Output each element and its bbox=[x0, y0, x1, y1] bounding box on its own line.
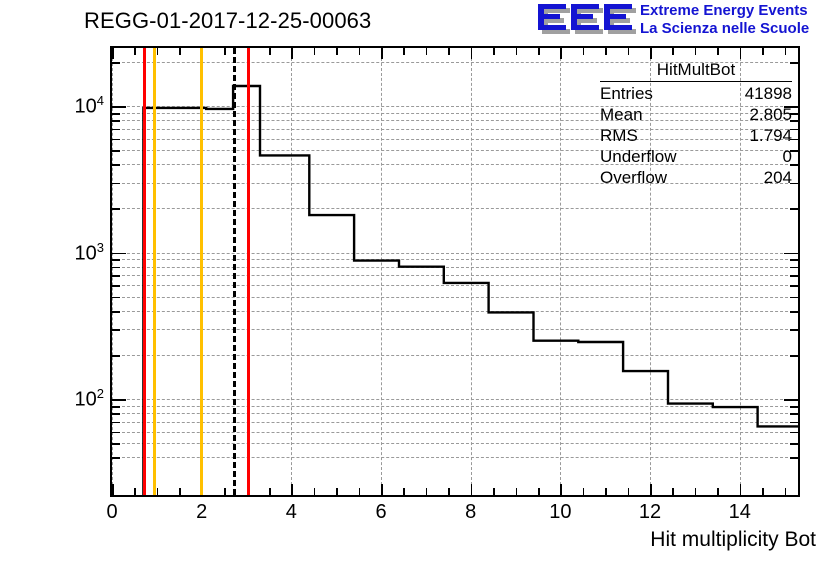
x-tick-label: 10 bbox=[549, 501, 571, 524]
x-tick-label: 14 bbox=[729, 501, 751, 524]
stats-value: 0 bbox=[783, 146, 792, 167]
x-tick-label: 8 bbox=[465, 501, 476, 524]
stats-key: RMS bbox=[600, 125, 638, 146]
x-tick-label: 2 bbox=[196, 501, 207, 524]
x-tick-label: 0 bbox=[106, 501, 117, 524]
eee-logo-line2: La Scienza nelle Scuole bbox=[640, 20, 809, 38]
stats-value: 204 bbox=[764, 167, 792, 188]
y-tick-label: 103 bbox=[52, 240, 104, 266]
stats-row: RMS1.794 bbox=[596, 125, 796, 146]
eee-logo: Extreme Energy Events La Scienza nelle S… bbox=[536, 2, 832, 40]
stats-key: Overflow bbox=[600, 167, 667, 188]
stats-value: 1.794 bbox=[749, 125, 792, 146]
x-tick-label: 4 bbox=[286, 501, 297, 524]
stats-key: Entries bbox=[600, 83, 653, 104]
x-tick-label: 6 bbox=[375, 501, 386, 524]
stats-key: Mean bbox=[600, 104, 643, 125]
eee-logo-line1: Extreme Energy Events bbox=[640, 2, 808, 19]
stats-value: 41898 bbox=[745, 83, 792, 104]
eee-logo-text: Extreme Energy Events La Scienza nelle S… bbox=[640, 2, 809, 38]
stats-key: Underflow bbox=[600, 146, 677, 167]
y-tick-label: 104 bbox=[52, 93, 104, 119]
page-title: REGG-01-2017-12-25-00063 bbox=[84, 8, 371, 34]
marker-line-orange-left bbox=[153, 48, 156, 495]
stats-row: Underflow0 bbox=[596, 146, 796, 167]
eee-logo-mark bbox=[536, 3, 634, 37]
stats-row: Mean2.805 bbox=[596, 104, 796, 125]
marker-line-red-left bbox=[143, 48, 146, 495]
stats-value: 2.805 bbox=[749, 104, 792, 125]
plot-canvas: REGG-01-2017-12-25-00063 bbox=[0, 0, 836, 572]
y-tick-label: 102 bbox=[52, 386, 104, 412]
marker-line-red-right bbox=[247, 48, 250, 495]
marker-line-orange-right bbox=[200, 48, 203, 495]
stats-row: Overflow204 bbox=[596, 167, 796, 188]
marker-line-black-dashed bbox=[233, 48, 236, 495]
stats-row: Entries41898 bbox=[596, 83, 796, 104]
stats-box: HitMultBot Entries41898Mean2.805RMS1.794… bbox=[596, 60, 796, 188]
x-tick-label: 12 bbox=[639, 501, 661, 524]
x-axis-title: Hit multiplicity Bot bbox=[650, 528, 816, 552]
stats-title: HitMultBot bbox=[600, 60, 792, 82]
